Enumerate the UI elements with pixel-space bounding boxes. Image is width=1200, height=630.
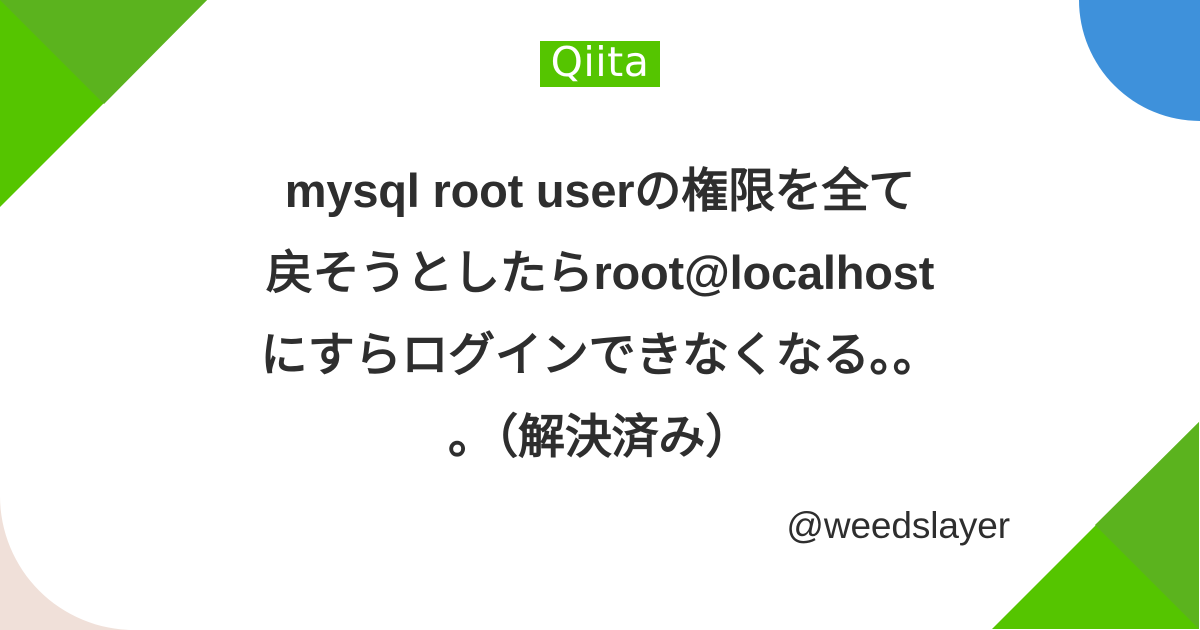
card-content: mysql root userの権限を全て 戻そうとしたらroot@localh… [0, 0, 1200, 630]
article-title-line: 戻そうとしたらroot@localhost [170, 232, 1030, 314]
article-title-line: にすらログインできなくなる。。 [170, 314, 1030, 396]
article-title-line: mysql root userの権限を全て [170, 150, 1030, 232]
author-handle: @weedslayer [786, 505, 1010, 546]
article-title-line: 。（解決済み） [170, 396, 1030, 478]
qiita-social-card: Qiita mysql root userの権限を全て 戻そうとしたらroot@… [0, 0, 1200, 630]
author-row: @weedslayer [170, 504, 1030, 548]
article-title: mysql root userの権限を全て 戻そうとしたらroot@localh… [170, 150, 1030, 478]
